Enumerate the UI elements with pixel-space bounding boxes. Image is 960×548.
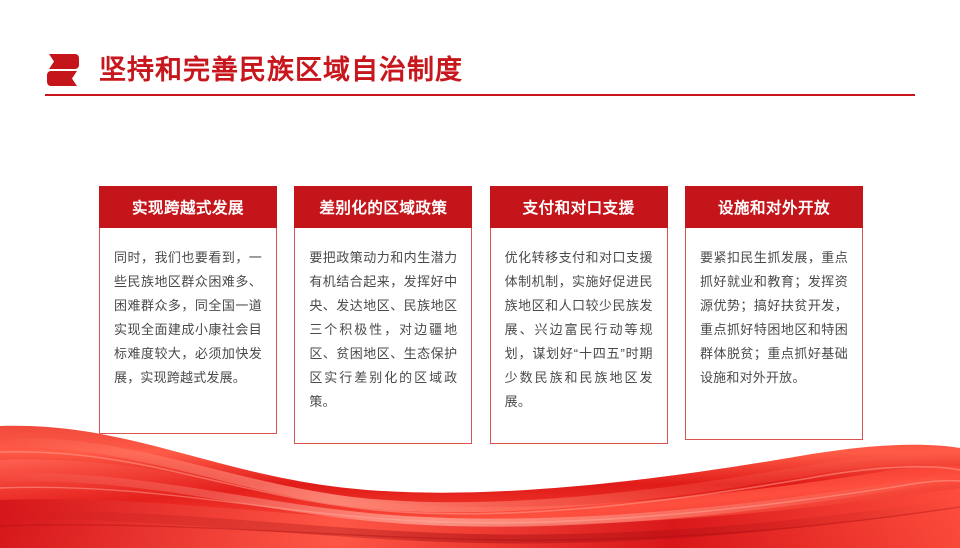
card-header: 实现跨越式发展 [99,186,277,228]
title-underline-divider [45,94,915,96]
card-body: 同时，我们也要看到，一些民族地区群众困难多、困难群众多，同全国一道实现全面建成小… [99,228,277,434]
card-body: 要紧扣民生抓发展，重点抓好就业和教育；发挥资源优势；搞好扶贫开发，重点抓好特困地… [685,228,863,440]
page-title: 坚持和完善民族区域自治制度 [99,53,463,87]
card-item[interactable]: 设施和对外开放 要紧扣民生抓发展，重点抓好就业和教育；发挥资源优势；搞好扶贫开发… [685,186,863,444]
card-item[interactable]: 差别化的区域政策 要把政策动力和内生潜力有机结合起来，发挥好中央、发达地区、民族… [294,186,472,444]
card-header: 设施和对外开放 [685,186,863,228]
card-item[interactable]: 支付和对口支援 优化转移支付和对口支援体制机制，实施好促进民族地区和人口较少民族… [490,186,668,444]
card-header: 差别化的区域政策 [294,186,472,228]
slide-canvas: 坚持和完善民族区域自治制度 实现跨越式发展 同时，我们也要看到，一些民族地区群众… [0,0,960,548]
card-body: 要把政策动力和内生潜力有机结合起来，发挥好中央、发达地区、民族地区三个积极性，对… [294,228,472,444]
card-body: 优化转移支付和对口支援体制机制，实施好促进民族地区和人口较少民族发展、兴边富民行… [490,228,668,444]
card-item[interactable]: 实现跨越式发展 同时，我们也要看到，一些民族地区群众困难多、困难群众多，同全国一… [99,186,277,444]
card-group: 实现跨越式发展 同时，我们也要看到，一些民族地区群众困难多、困难群众多，同全国一… [99,186,863,444]
card-header: 支付和对口支援 [490,186,668,228]
book-banner-icon [45,51,81,89]
slide-title-row: 坚持和完善民族区域自治制度 [45,48,463,92]
